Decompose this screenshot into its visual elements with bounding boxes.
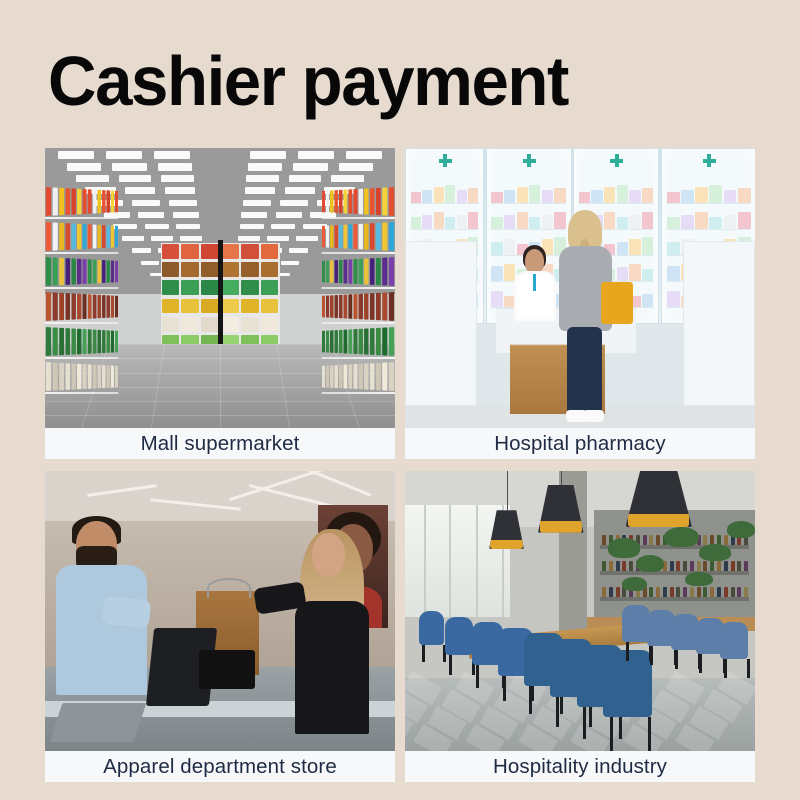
pharmacist-lanyard (533, 274, 536, 291)
customer-right-shoe (583, 410, 604, 423)
photo-restaurant-bar (405, 471, 755, 751)
page-title: Cashier payment (48, 45, 568, 119)
caption-hospital-pharmacy: Hospital pharmacy (405, 428, 755, 459)
caption-mall-supermarket: Mall supermarket (45, 428, 395, 459)
counter-laptop (49, 703, 146, 742)
card-reader (199, 650, 255, 689)
photo-retail-checkout (45, 471, 395, 751)
card-hospitality-industry[interactable]: Hospitality industry (405, 471, 755, 782)
card-hospital-pharmacy[interactable]: Hospital pharmacy (405, 148, 755, 459)
left-shelf-products (45, 148, 171, 428)
image-grid: Mall supermarket (45, 148, 755, 782)
pharmacist-head (525, 249, 543, 274)
aisle-pillar (218, 240, 224, 358)
poster-page: Cashier payment Mall supermarket (0, 0, 800, 800)
apparel-store-scene (45, 471, 395, 751)
shopper-head (312, 533, 346, 577)
right-shelf-products (269, 148, 395, 428)
hospitality-scene (405, 471, 755, 751)
pharmacy-left-side-shelf (405, 241, 477, 405)
cashier-blue-shirt (56, 565, 147, 695)
card-mall-supermarket[interactable]: Mall supermarket (45, 148, 395, 459)
bag-handle (207, 578, 251, 598)
pharmacist-figure (514, 249, 556, 322)
cashier-figure (56, 521, 147, 695)
caption-apparel-department-store: Apparel department store (45, 751, 395, 782)
pharmacy-scene (405, 148, 755, 428)
shopper-black-blazer (295, 601, 369, 734)
restaurant-windows (405, 505, 510, 617)
customer-yellow-handbag (601, 282, 633, 324)
cashier-extended-arm (101, 595, 151, 628)
pharmacy-right-side-shelf (683, 241, 755, 405)
photo-supermarket-aisle (45, 148, 395, 428)
customer-jeans (567, 327, 602, 412)
shopper-figure (290, 533, 374, 735)
photo-pharmacy-counter (405, 148, 755, 428)
supermarket-scene (45, 148, 395, 428)
card-apparel-department-store[interactable]: Apparel department store (45, 471, 395, 782)
caption-hospitality-industry: Hospitality industry (405, 751, 755, 782)
